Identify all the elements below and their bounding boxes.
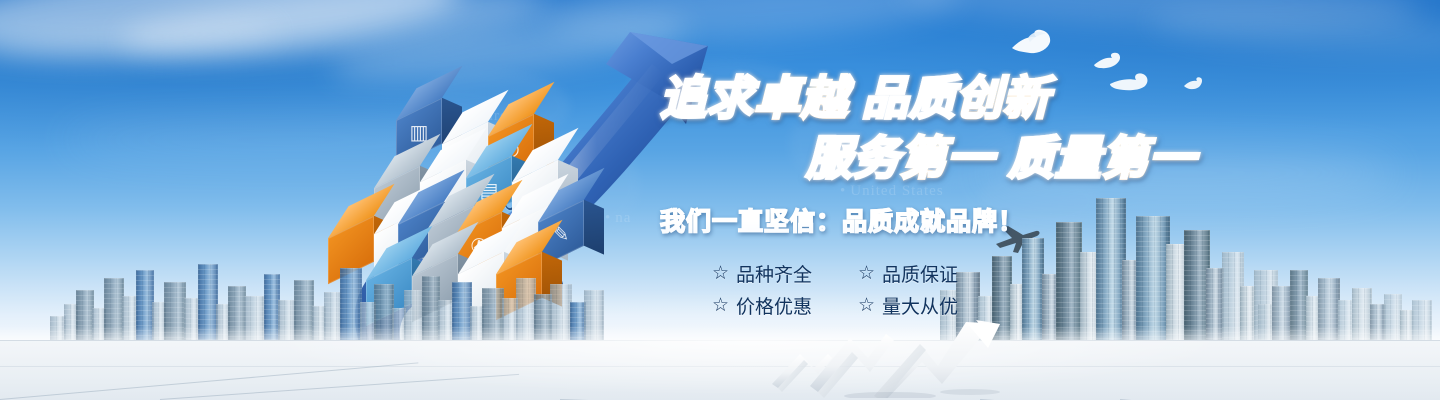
feature-label: 量大从优 [882,292,958,319]
star-outline-icon: ☆ [858,296,875,315]
headline-seg-2: 卓越 [754,71,848,125]
headline-seg-1: 追求 [660,71,754,125]
headline-line-2: 服务第一质量第一 [660,128,1200,188]
headline: 追求卓越品质创新 服务第一质量第一 [660,68,1200,188]
headline-seg-5: 服务 [806,131,900,185]
feature-label: 品种齐全 [736,260,812,287]
star-outline-icon: ☆ [858,264,875,283]
star-outline-icon: ☆ [712,264,729,283]
cube-face [496,252,542,320]
ground-plaza [0,340,1440,400]
promo-banner: Europe United States na [0,0,1440,400]
headline-seg-7: 质量 [1008,131,1102,185]
star-outline-icon: ☆ [712,296,729,315]
subtitle: 我们一直坚信：品质成就品牌！ [660,202,1200,238]
feature-item-4: ☆ 量大从优 [858,290,978,320]
feature-item-2: ☆ 品质保证 [858,258,978,288]
headline-seg-3: 品质 [862,71,956,125]
copy-block: 追求卓越品质创新 服务第一质量第一 我们一直坚信：品质成就品牌！ ☆ 品种齐全 … [660,68,1200,320]
feature-label: 价格优惠 [736,292,812,319]
feature-list: ☆ 品种齐全 ☆ 品质保证 ☆ 价格优惠 ☆ 量大从优 [712,258,1200,320]
cube-face [328,216,374,284]
headline-seg-6: 第一 [900,131,994,185]
headline-seg-8: 第一 [1102,131,1196,185]
rubiks-cube-graphic: ▥ ◎ ▤ [330,105,570,320]
feature-item-1: ☆ 品种齐全 [712,258,832,288]
ground-sheen [0,340,1440,400]
headline-line-1: 追求卓越品质创新 [660,68,1200,128]
headline-seg-4: 创新 [956,71,1050,125]
cube-face [412,254,458,322]
growth-arrows-graphic [770,318,1010,398]
cube-face [366,258,412,326]
feature-label: 品质保证 [882,260,958,287]
feature-item-3: ☆ 价格优惠 [712,290,832,320]
